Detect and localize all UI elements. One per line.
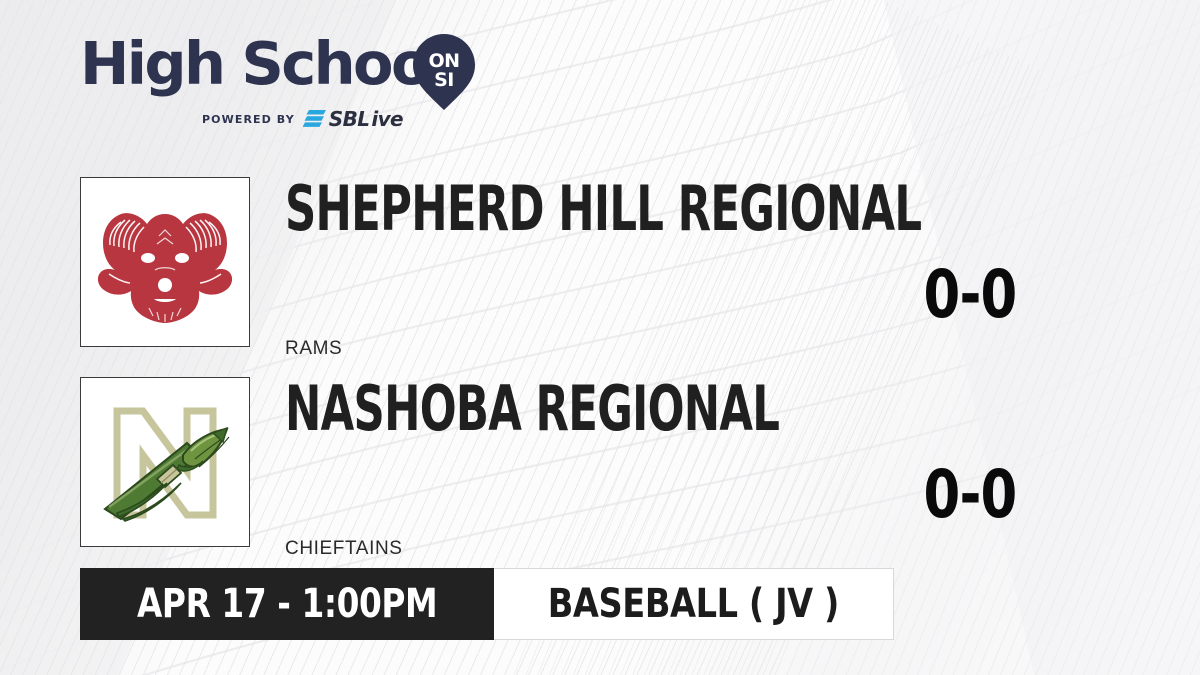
game-sport-label: BASEBALL ( JV ) (548, 584, 839, 624)
team-name-primary: SHEPHERD HILL REGIONAL (285, 178, 921, 240)
on-si-pin-icon: ON SI (413, 34, 475, 110)
team-record-primary: 0-0 (914, 262, 1026, 328)
team-record-secondary: 0-0 (914, 462, 1026, 528)
sblive-s-mark (303, 109, 327, 129)
game-sport-block: BASEBALL ( JV ) (494, 568, 894, 640)
matchup-graphic: High School ON SI POWERED BY SBLive (0, 0, 1200, 675)
brand-header: High School ON SI POWERED BY SBLive (80, 33, 510, 133)
team-name-secondary: NASHOBA REGIONAL (285, 378, 779, 440)
game-datetime-label: APR 17 - 1:00PM (137, 584, 437, 624)
game-datetime-block: APR 17 - 1:00PM (80, 568, 494, 640)
team-logo-box-nashoba (80, 377, 250, 547)
team-logo-box-shepherd-hill (80, 177, 250, 347)
powered-by-row: POWERED BY SBLive (202, 109, 403, 129)
sblive-wordmark-upper: SBL (329, 109, 370, 129)
powered-by-label: POWERED BY (202, 113, 295, 126)
sblive-logo: SBLive (303, 109, 403, 129)
svg-text:SI: SI (434, 69, 454, 91)
nashoba-n-spear-icon (95, 397, 235, 527)
sblive-wordmark-lower: ive (371, 109, 403, 129)
ram-head-icon (97, 200, 233, 324)
game-info-banner: APR 17 - 1:00PM BASEBALL ( JV ) (80, 568, 894, 640)
team-mascot-secondary: CHIEFTAINS (285, 538, 403, 560)
team-mascot-primary: RAMS (285, 338, 342, 360)
